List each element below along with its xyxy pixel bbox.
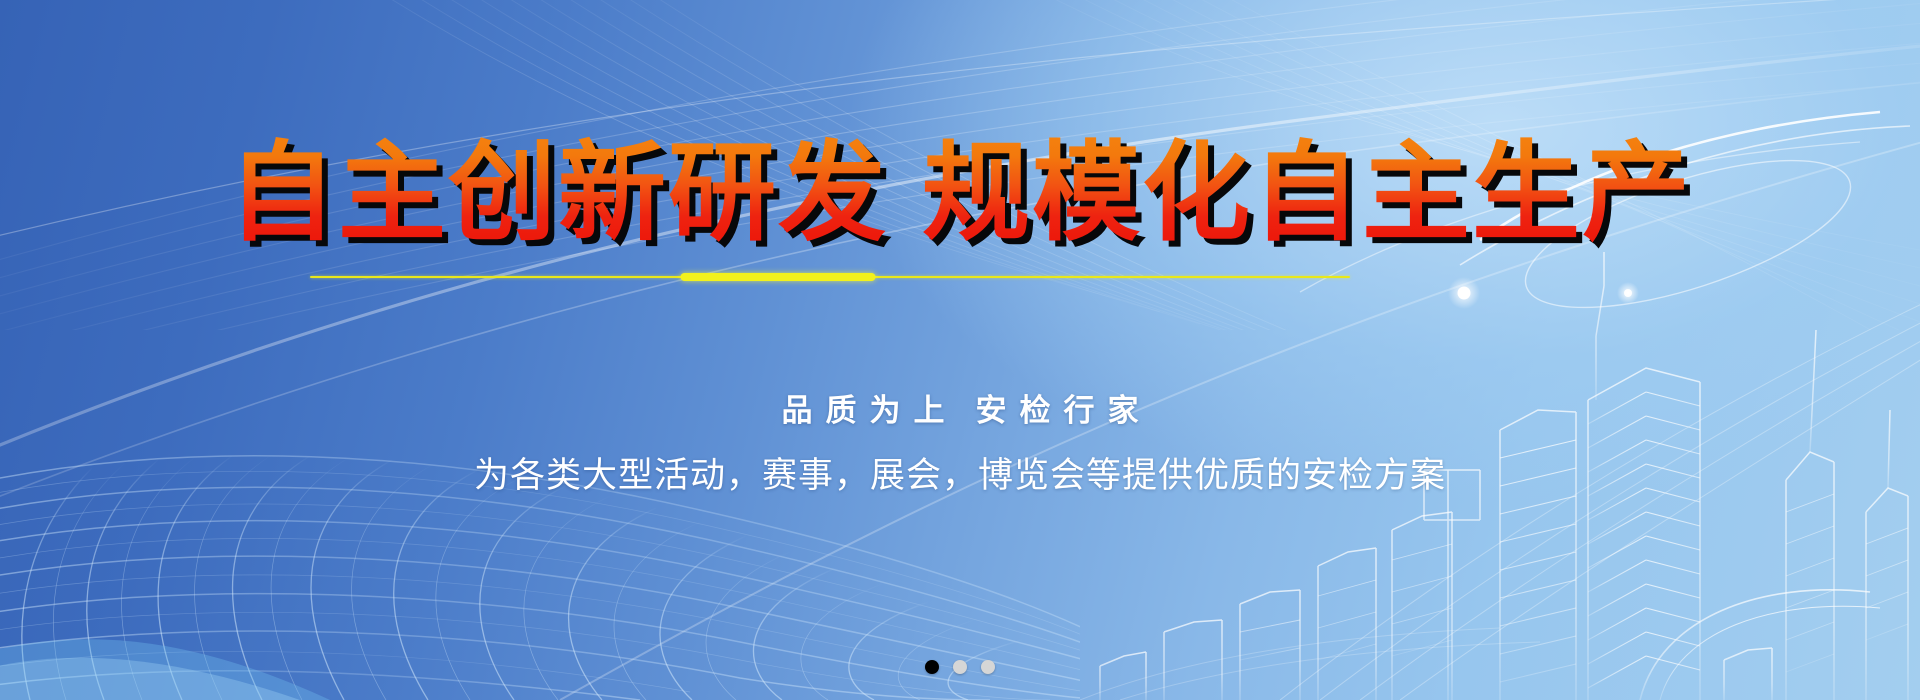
banner-content: 自主创新研发规模化自主生产 品质为上安检行家 为各类大型活动，赛事，展会，博览会… xyxy=(0,0,1920,700)
divider-accent-bar xyxy=(681,273,876,281)
carousel-dot-2[interactable] xyxy=(953,660,967,674)
carousel-pagination[interactable] xyxy=(0,660,1920,674)
subtitle-primary-a: 品质为上 xyxy=(782,393,958,428)
banner-subtitle-primary: 品质为上安检行家 xyxy=(0,385,1920,430)
headline-part-1: 自主创新研发 xyxy=(228,131,888,256)
banner-subtitle-secondary: 为各类大型活动，赛事，展会，博览会等提供优质的安检方案 xyxy=(0,447,1920,498)
banner-headline: 自主创新研发规模化自主生产 xyxy=(0,134,1920,255)
subtitle-primary-b: 安检行家 xyxy=(976,393,1152,428)
headline-part-2: 规模化自主生产 xyxy=(922,131,1692,256)
headline-divider xyxy=(310,275,1350,278)
carousel-dot-1[interactable] xyxy=(925,660,939,674)
hero-banner-slide: 自主创新研发规模化自主生产 品质为上安检行家 为各类大型活动，赛事，展会，博览会… xyxy=(0,0,1920,700)
carousel-dot-3[interactable] xyxy=(981,660,995,674)
